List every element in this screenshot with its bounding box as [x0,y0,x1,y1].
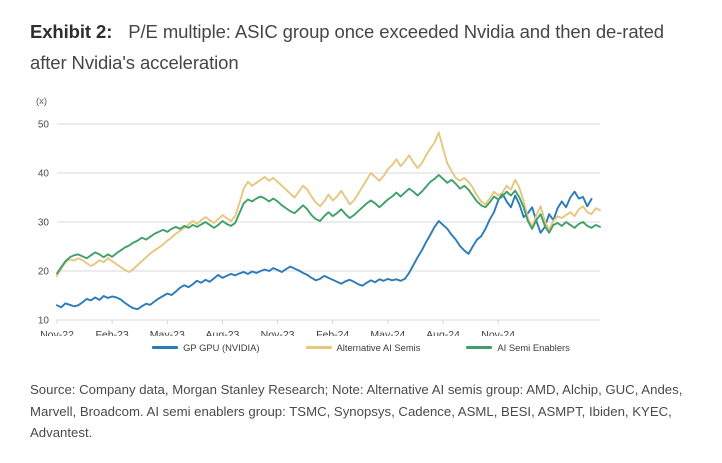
exhibit-title-text: P/E multiple: ASIC group once exceeded N… [30,21,664,73]
legend-label: Alternative AI Semis [337,342,421,353]
exhibit-container: Exhibit 2:P/E multiple: ASIC group once … [0,0,722,463]
y-axis-tick-label: 10 [38,316,50,327]
x-axis-tick-label: Nov-24 [481,329,515,336]
x-axis-tick-label: Feb-23 [96,329,129,336]
series-line-ai-semi-enablers [57,175,600,273]
chart-legend: GP GPU (NVIDIA)Alternative AI SemisAI Se… [0,342,722,353]
x-axis-tick-label: Nov-23 [261,329,295,336]
legend-swatch-icon [466,346,492,349]
legend-swatch-icon [152,346,178,349]
page-title: Exhibit 2:P/E multiple: ASIC group once … [30,16,702,78]
chart-area: (x) 1020304050Nov-22Feb-23May-23Aug-23No… [0,96,722,371]
legend-item[interactable]: GP GPU (NVIDIA) [152,342,259,353]
y-axis-tick-label: 50 [38,120,50,131]
y-axis-tick-label: 30 [38,218,50,229]
legend-item[interactable]: AI Semi Enablers [466,342,569,353]
exhibit-label: Exhibit 2: [30,21,112,42]
line-chart-svg: 1020304050Nov-22Feb-23May-23Aug-23Nov-23… [0,96,722,336]
legend-item[interactable]: Alternative AI Semis [306,342,421,353]
y-axis-tick-label: 40 [38,169,50,180]
legend-label: GP GPU (NVIDIA) [183,342,259,353]
legend-swatch-icon [306,346,332,349]
x-axis-tick-label: Aug-23 [206,329,240,336]
x-axis-tick-label: Aug-24 [426,329,460,336]
source-footnote: Source: Company data, Morgan Stanley Res… [30,379,698,444]
x-axis-tick-label: May-24 [370,329,405,336]
legend-label: AI Semi Enablers [497,342,569,353]
x-axis-tick-label: Feb-24 [316,329,349,336]
series-line-gp-gpu-nvidia [57,192,592,310]
x-axis-tick-label: Nov-22 [40,329,74,336]
x-axis-tick-label: May-23 [150,329,185,336]
y-axis-tick-label: 20 [38,267,50,278]
